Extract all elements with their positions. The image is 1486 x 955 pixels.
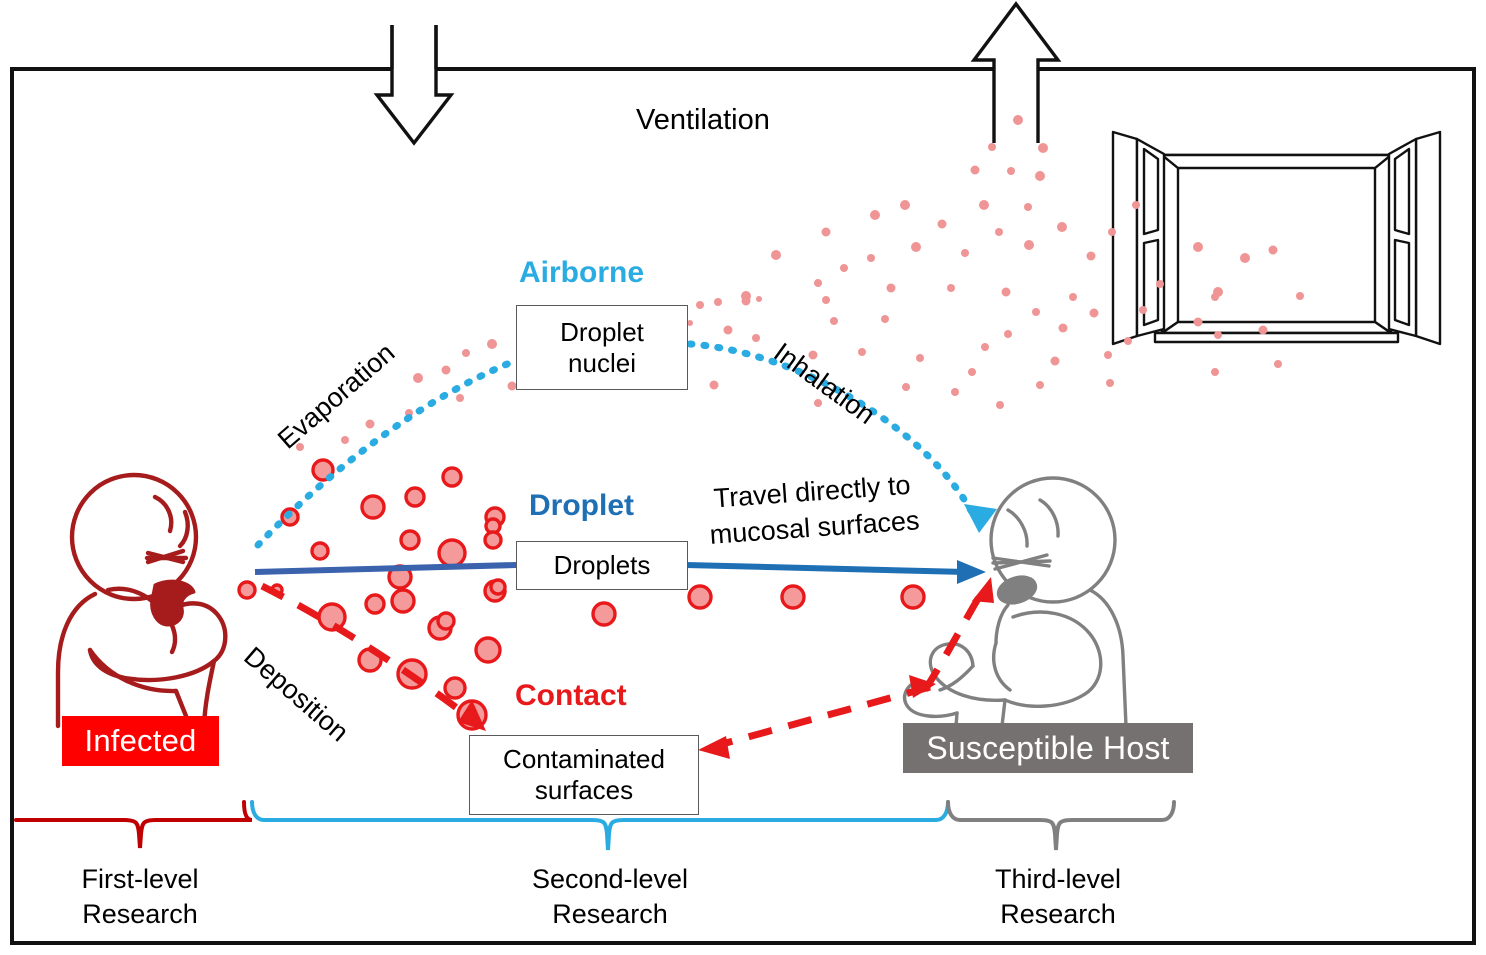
first-level-line2: Research xyxy=(40,897,240,932)
susceptible-person-figure xyxy=(905,478,1126,726)
droplet-travel-label: Travel directly to mucosal surfaces xyxy=(706,466,921,553)
open-window xyxy=(1113,132,1440,344)
first-level-research-label: First-level Research xyxy=(40,862,240,932)
droplet-line-right xyxy=(686,565,966,572)
contact-hand-to-face-path xyxy=(925,592,982,690)
node-droplet-nuclei-line2: nuclei xyxy=(568,348,636,379)
brace-first-level xyxy=(16,802,252,848)
airborne-mode-title: Airborne xyxy=(519,256,644,290)
brace-third-level xyxy=(948,802,1174,850)
third-level-line1: Third-level xyxy=(958,862,1158,897)
node-contaminated-surfaces[interactable]: Contaminated surfaces xyxy=(469,735,699,815)
droplet-line-left xyxy=(255,565,516,572)
ventilation-supply-arrow-down xyxy=(377,25,451,143)
node-contaminated-line1: Contaminated xyxy=(503,744,665,775)
infected-badge[interactable]: Infected xyxy=(62,716,219,766)
infected-person-figure xyxy=(58,475,225,726)
second-level-line2: Research xyxy=(505,897,715,932)
contact-mode-title: Contact xyxy=(515,679,627,713)
node-droplet-nuclei[interactable]: Droplet nuclei xyxy=(516,305,688,390)
contact-face-arrowhead xyxy=(972,577,994,603)
node-droplets-line1: Droplets xyxy=(554,550,651,581)
diagram-canvas: Ventilation Airborne Droplet Contact Dro… xyxy=(0,0,1486,955)
node-droplet-nuclei-line1: Droplet xyxy=(560,317,644,348)
node-contaminated-line2: surfaces xyxy=(535,775,633,806)
droplet-arrowhead xyxy=(957,560,986,584)
ventilation-label: Ventilation xyxy=(636,104,770,137)
third-level-research-label: Third-level Research xyxy=(958,862,1158,932)
second-level-research-label: Second-level Research xyxy=(505,862,715,932)
contact-to-surface-arrowhead xyxy=(698,736,730,759)
second-level-line1: Second-level xyxy=(505,862,715,897)
susceptible-host-badge[interactable]: Susceptible Host xyxy=(903,723,1193,773)
contact-surface-to-host-path xyxy=(715,687,930,746)
node-droplets[interactable]: Droplets xyxy=(516,541,688,590)
third-level-line2: Research xyxy=(958,897,1158,932)
first-level-line1: First-level xyxy=(40,862,240,897)
droplet-mode-title: Droplet xyxy=(529,489,634,523)
